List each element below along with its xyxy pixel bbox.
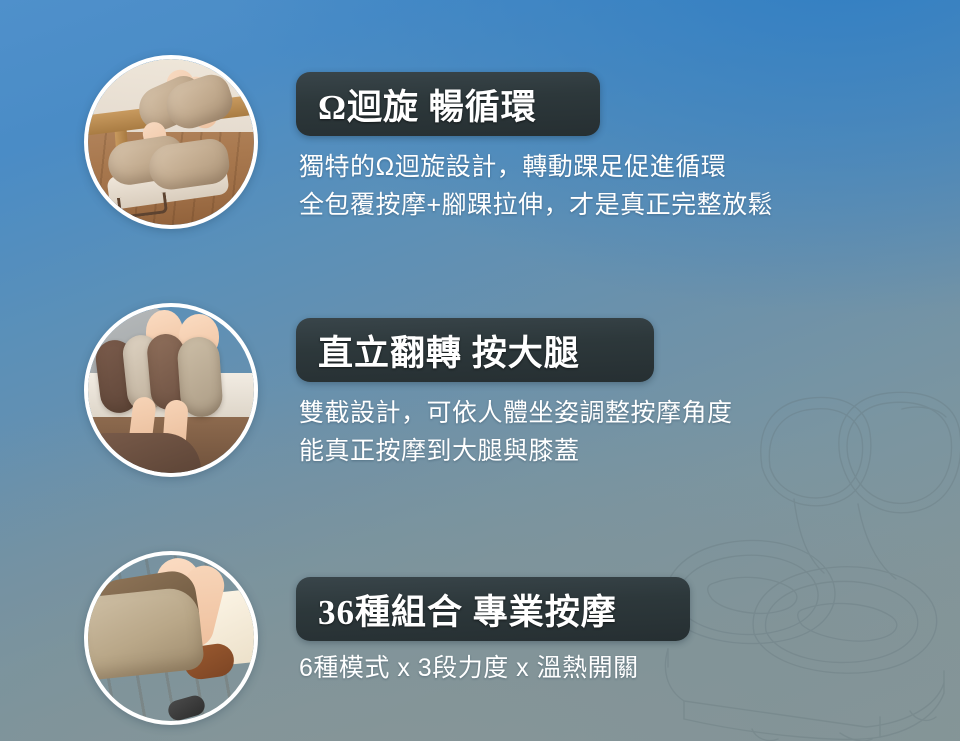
feature-description-line: 能真正按摩到大腿與膝蓋	[299, 432, 733, 470]
feature-description-36-combinations: 6種模式 x 3段力度 x 溫熱開關	[299, 649, 639, 687]
feature-photo-36-combinations	[84, 551, 258, 725]
feature-description-upright-flip: 雙截設計，可依人體坐姿調整按摩角度 能真正按摩到大腿與膝蓋	[299, 394, 733, 470]
feature-photo-upright-flip	[84, 303, 258, 477]
feature-title-badge-upright-flip: 直立翻轉 按大腿	[296, 318, 654, 382]
feature-title-badge-36-combinations: 36種組合 專業按摩	[296, 577, 690, 641]
feature-description-line: 雙截設計，可依人體坐姿調整按摩角度	[299, 394, 733, 432]
photo-scene-upright-massage-thigh	[88, 307, 254, 473]
photo-scene-side-view-massager	[88, 555, 254, 721]
feature-row-36-combinations: 36種組合 專業按摩 6種模式 x 3段力度 x 溫熱開關	[0, 0, 960, 260]
product-feature-poster: Ω迴旋 暢循環 獨特的Ω迴旋設計，轉動踝足促進循環 全包覆按摩+腳踝拉伸，才是真…	[0, 0, 960, 741]
feature-description-line: 6種模式 x 3段力度 x 溫熱開關	[299, 649, 639, 687]
feature-title-text: 36種組合 專業按摩	[318, 584, 617, 635]
feature-title-text: 直立翻轉 按大腿	[318, 325, 580, 376]
